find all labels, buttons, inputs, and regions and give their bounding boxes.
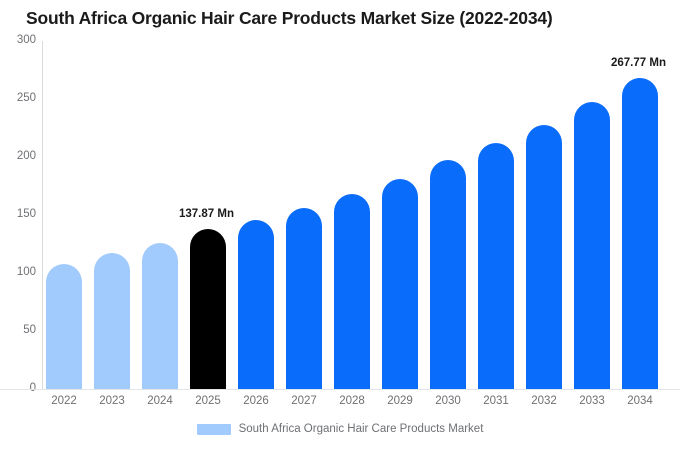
bar-2023[interactable]	[94, 253, 130, 389]
chart-title: South Africa Organic Hair Care Products …	[26, 8, 553, 29]
x-axis-line	[0, 389, 680, 390]
y-tick-label: 250	[2, 93, 36, 105]
bar-2026[interactable]	[238, 220, 274, 389]
x-tick-label-2023: 2023	[88, 396, 136, 408]
bar-2024[interactable]	[142, 243, 178, 389]
legend-label: South Africa Organic Hair Care Products …	[239, 424, 484, 436]
y-axis-tick-labels: 050100150200250300	[0, 0, 36, 450]
legend-swatch-icon	[197, 424, 231, 435]
x-tick-label-2034: 2034	[616, 396, 664, 408]
x-tick-label-2032: 2032	[520, 396, 568, 408]
bar-2027[interactable]	[286, 208, 322, 389]
chart-legend: South Africa Organic Hair Care Products …	[0, 424, 680, 436]
y-tick-label: 300	[2, 35, 36, 47]
x-tick-label-2022: 2022	[40, 396, 88, 408]
x-tick-label-2026: 2026	[232, 396, 280, 408]
y-tick-label: 150	[2, 209, 36, 221]
chart-container: South Africa Organic Hair Care Products …	[0, 0, 680, 450]
x-tick-label-2029: 2029	[376, 396, 424, 408]
bar-2031[interactable]	[478, 143, 514, 389]
x-tick-label-2027: 2027	[280, 396, 328, 408]
bar-value-label-2034: 267.77 Mn	[611, 58, 666, 70]
x-tick-label-2033: 2033	[568, 396, 616, 408]
bar-2025[interactable]	[190, 229, 226, 389]
bar-2029[interactable]	[382, 179, 418, 389]
x-tick-label-2025: 2025	[184, 396, 232, 408]
y-tick-label: 50	[2, 325, 36, 337]
x-tick-label-2028: 2028	[328, 396, 376, 408]
bar-2030[interactable]	[430, 160, 466, 389]
bar-2022[interactable]	[46, 264, 82, 389]
x-tick-label-2031: 2031	[472, 396, 520, 408]
bar-2028[interactable]	[334, 194, 370, 389]
x-tick-label-2024: 2024	[136, 396, 184, 408]
y-tick-label: 100	[2, 267, 36, 279]
bar-2032[interactable]	[526, 125, 562, 389]
y-tick-label: 200	[2, 151, 36, 163]
bar-value-label-2025: 137.87 Mn	[179, 209, 234, 221]
x-tick-label-2030: 2030	[424, 396, 472, 408]
bar-2034[interactable]	[622, 78, 658, 389]
bar-2033[interactable]	[574, 102, 610, 389]
